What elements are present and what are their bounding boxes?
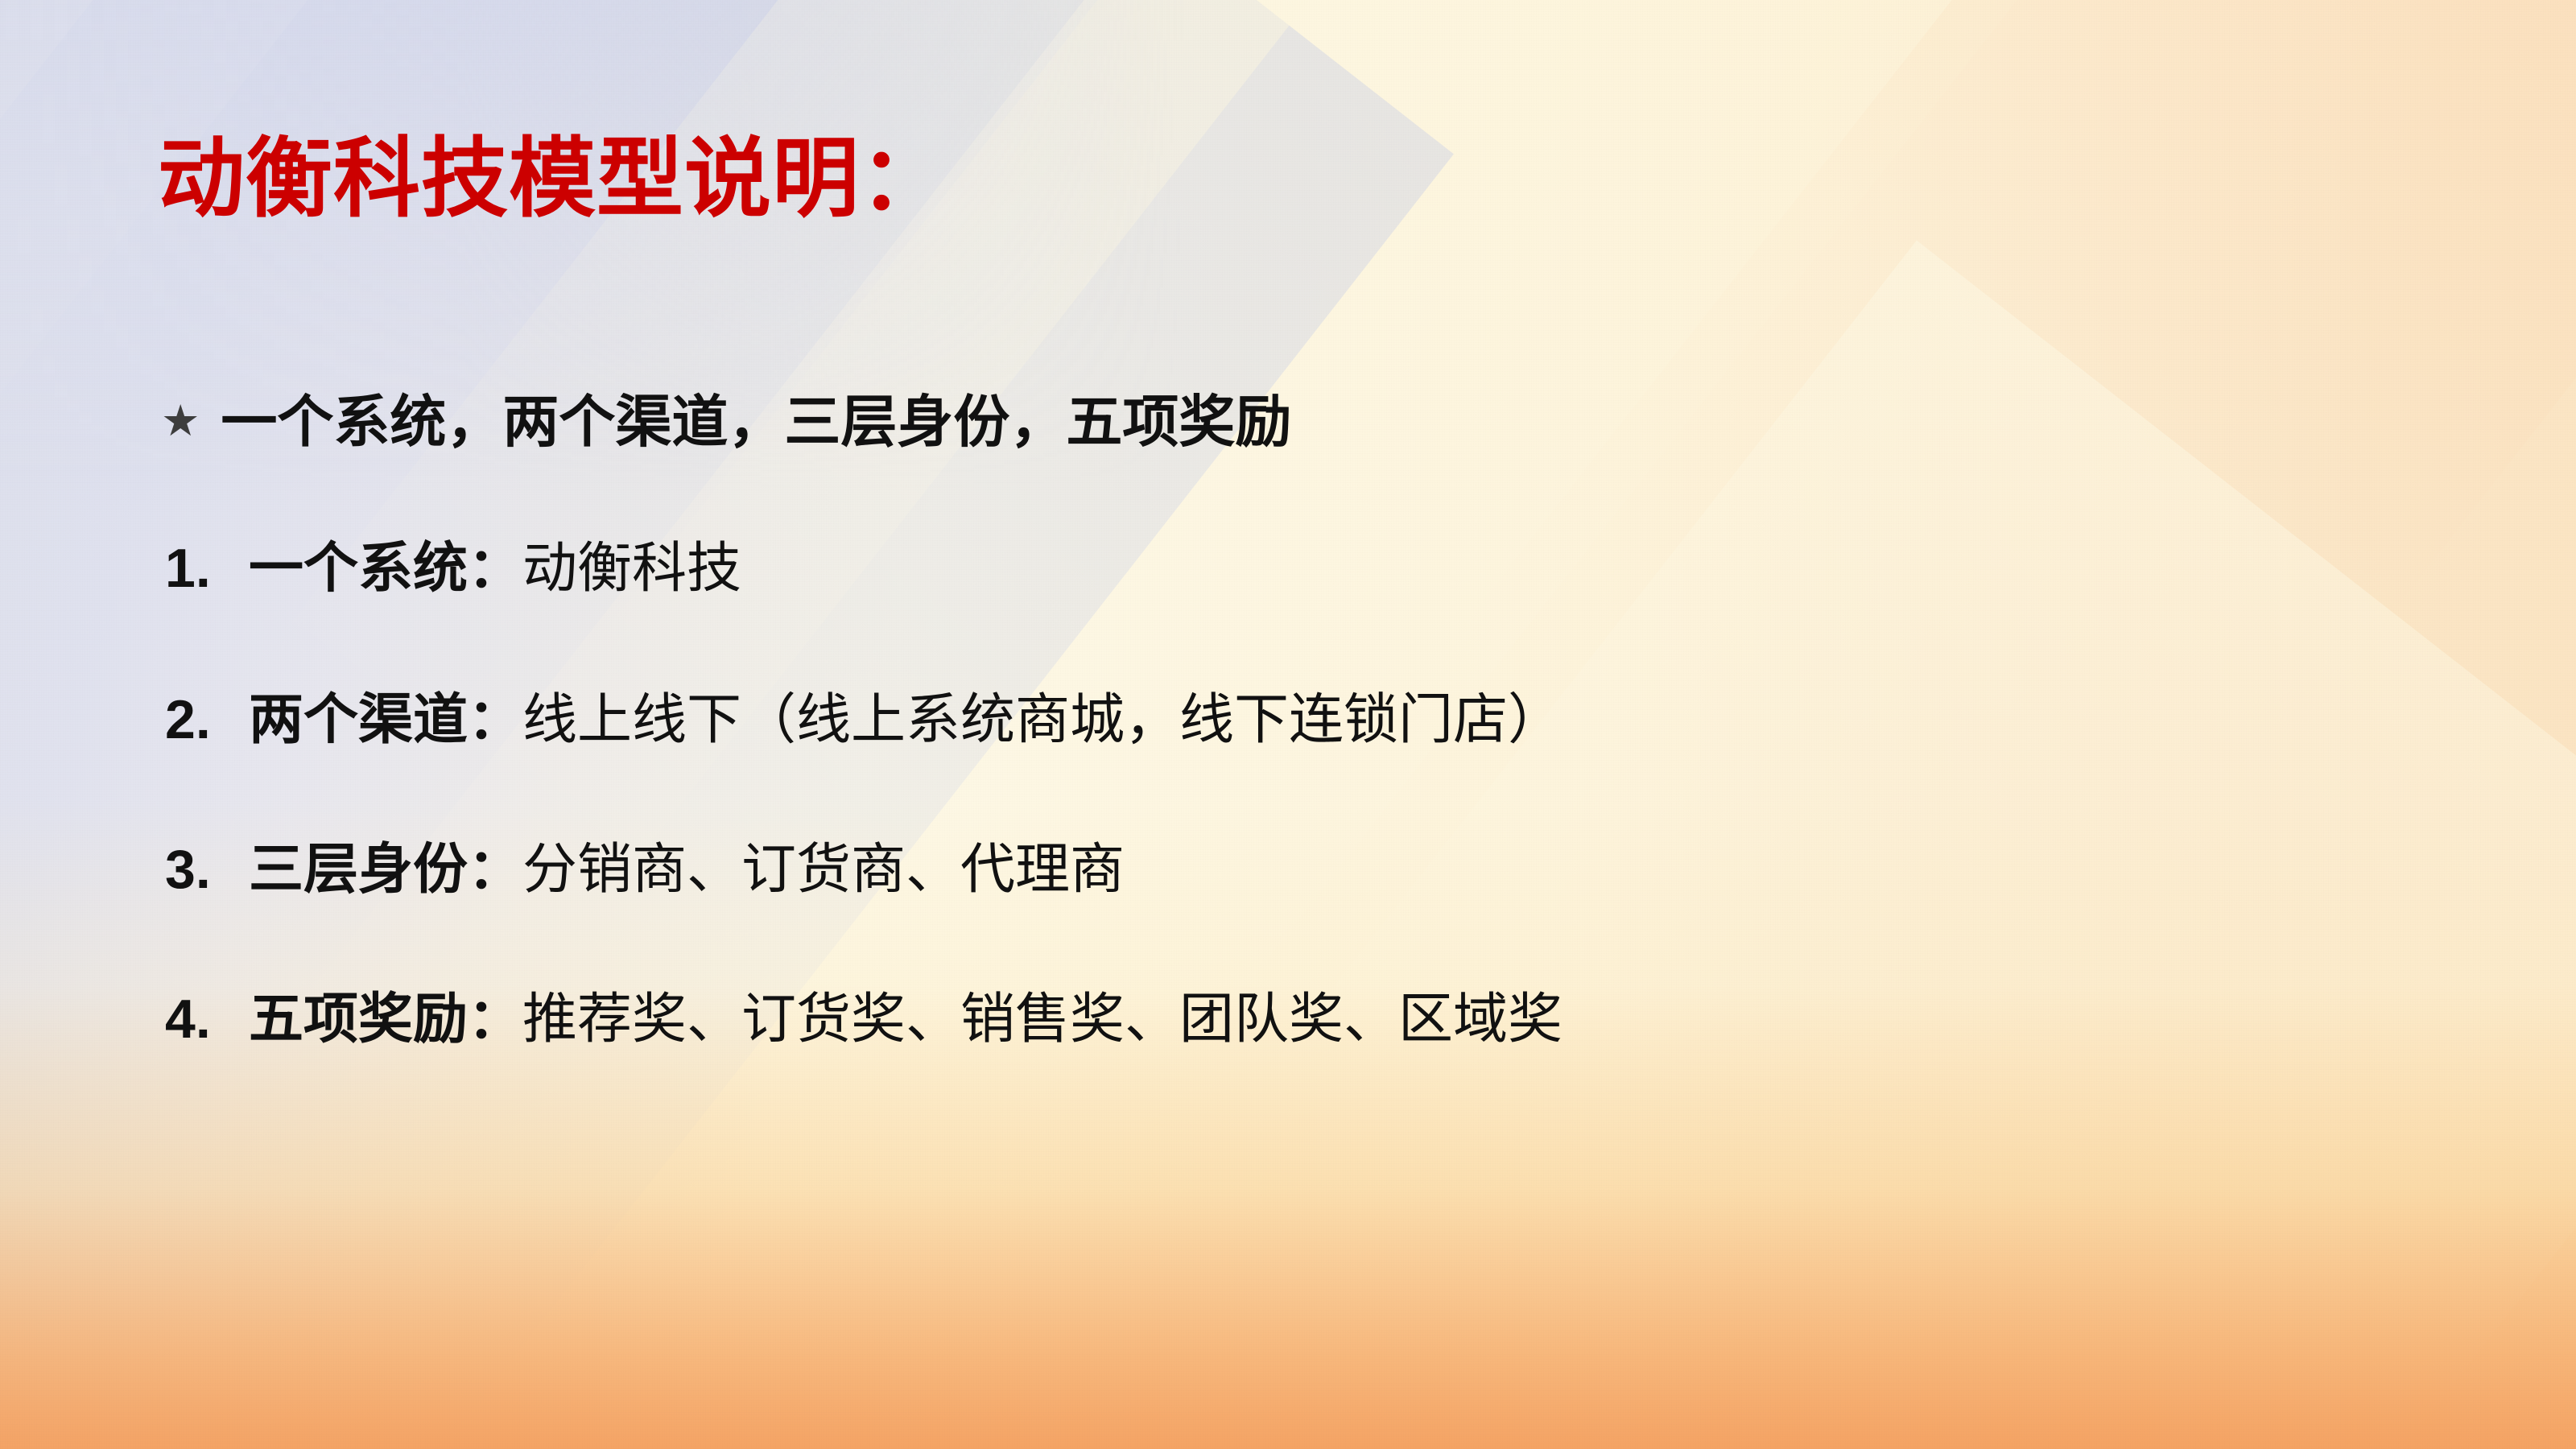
page-title: 动衡科技模型说明： — [158, 127, 947, 229]
list-item: 1. 一个系统 ： 动衡科技 — [165, 523, 741, 603]
list-item-number: 3. — [165, 838, 249, 901]
list-item: 4. 五项奖励 ： 推荐奖、订货奖、销售奖、团队奖、区域奖 — [165, 974, 1563, 1054]
list-item-value: 线上线下（线上系统商城，线下连锁门店） — [522, 675, 1563, 754]
list-item-label: 两个渠道 — [249, 675, 468, 754]
list-item-label: 一个系统 — [249, 523, 468, 603]
list-item-colon: ： — [468, 824, 522, 904]
list-item-value: 动衡科技 — [522, 523, 741, 603]
presentation-slide: 动衡科技模型说明： ★ 一个系统，两个渠道，三层身份，五项奖励 1. 一个系统 … — [0, 0, 2576, 1449]
list-item-value: 分销商、订货商、代理商 — [522, 824, 1125, 904]
star-icon: ★ — [161, 399, 200, 443]
list-item-colon: ： — [468, 523, 522, 603]
list-item-number: 1. — [165, 537, 249, 600]
list-item-number: 2. — [165, 688, 249, 751]
list-item-number: 4. — [165, 988, 249, 1051]
list-item-colon: ： — [468, 974, 522, 1054]
slide-content: 动衡科技模型说明： ★ 一个系统，两个渠道，三层身份，五项奖励 1. 一个系统 … — [0, 0, 2576, 1449]
summary-line-text: 一个系统，两个渠道，三层身份，五项奖励 — [221, 377, 1291, 458]
list-item: 3. 三层身份 ： 分销商、订货商、代理商 — [165, 824, 1125, 904]
summary-line: ★ 一个系统，两个渠道，三层身份，五项奖励 — [161, 377, 1291, 458]
list-item: 2. 两个渠道 ： 线上线下（线上系统商城，线下连锁门店） — [165, 675, 1563, 754]
list-item-colon: ： — [468, 675, 522, 754]
list-item-label: 三层身份 — [249, 824, 468, 904]
list-item-value: 推荐奖、订货奖、销售奖、团队奖、区域奖 — [522, 974, 1563, 1054]
list-item-label: 五项奖励 — [249, 974, 468, 1054]
